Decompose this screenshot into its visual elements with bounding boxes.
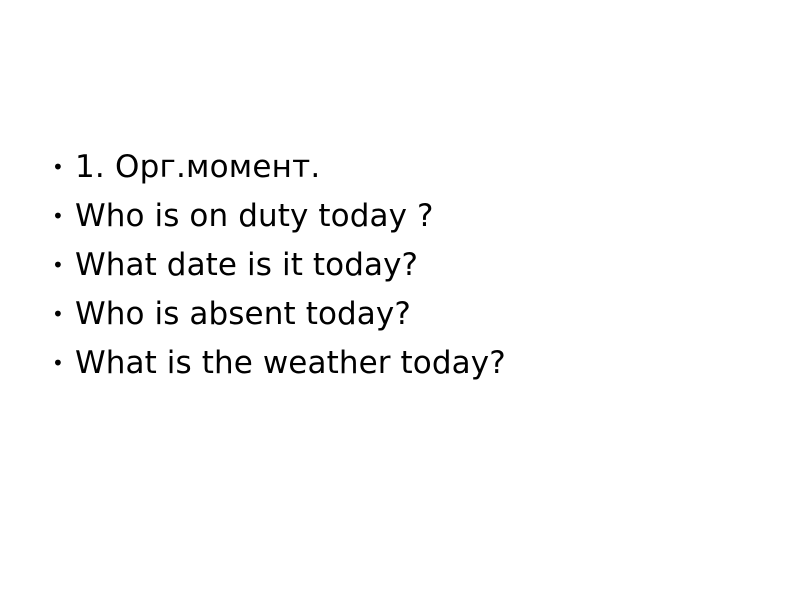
bullet-point-icon: • xyxy=(52,143,75,192)
bullet-point-icon: • xyxy=(52,241,75,290)
list-item[interactable]: • What is the weather today? xyxy=(52,339,752,388)
list-item-text: What date is it today? xyxy=(75,241,418,290)
slide-canvas: • 1. Орг.момент. • Who is on duty today … xyxy=(0,0,800,600)
list-item-text: What is the weather today? xyxy=(75,339,506,388)
bullet-point-icon: • xyxy=(52,339,75,388)
list-item[interactable]: • What date is it today? xyxy=(52,241,752,290)
content-placeholder: • 1. Орг.момент. • Who is on duty today … xyxy=(52,143,752,388)
list-item[interactable]: • Who is absent today? xyxy=(52,290,752,339)
bullet-list: • 1. Орг.момент. • Who is on duty today … xyxy=(52,143,752,388)
list-item-text: Who is on duty today ? xyxy=(75,192,434,241)
bullet-point-icon: • xyxy=(52,192,75,241)
list-item-text: 1. Орг.момент. xyxy=(75,143,320,192)
bullet-point-icon: • xyxy=(52,290,75,339)
list-item-text: Who is absent today? xyxy=(75,290,411,339)
list-item[interactable]: • Who is on duty today ? xyxy=(52,192,752,241)
list-item[interactable]: • 1. Орг.момент. xyxy=(52,143,752,192)
